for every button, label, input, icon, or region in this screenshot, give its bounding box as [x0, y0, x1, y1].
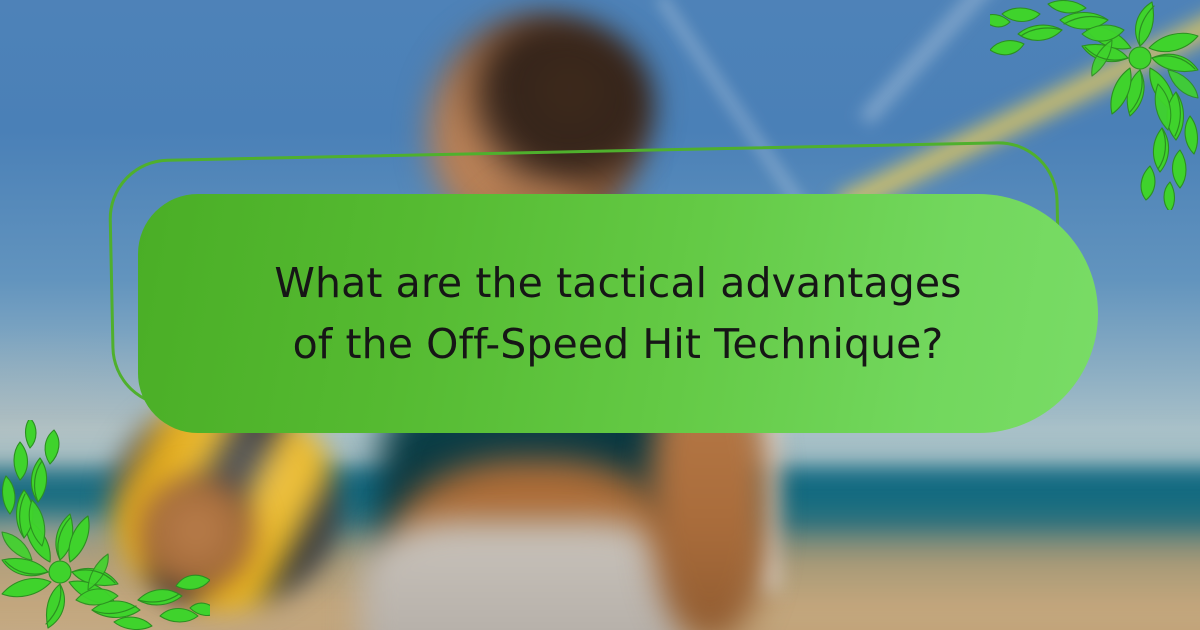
player-hand: [136, 476, 256, 596]
page-title: What are the tactical advantages of the …: [268, 253, 968, 374]
player-shorts: [360, 520, 690, 630]
headline-card: What are the tactical advantages of the …: [138, 194, 1098, 433]
screenshot-canvas: What are the tactical advantages of the …: [0, 0, 1200, 630]
